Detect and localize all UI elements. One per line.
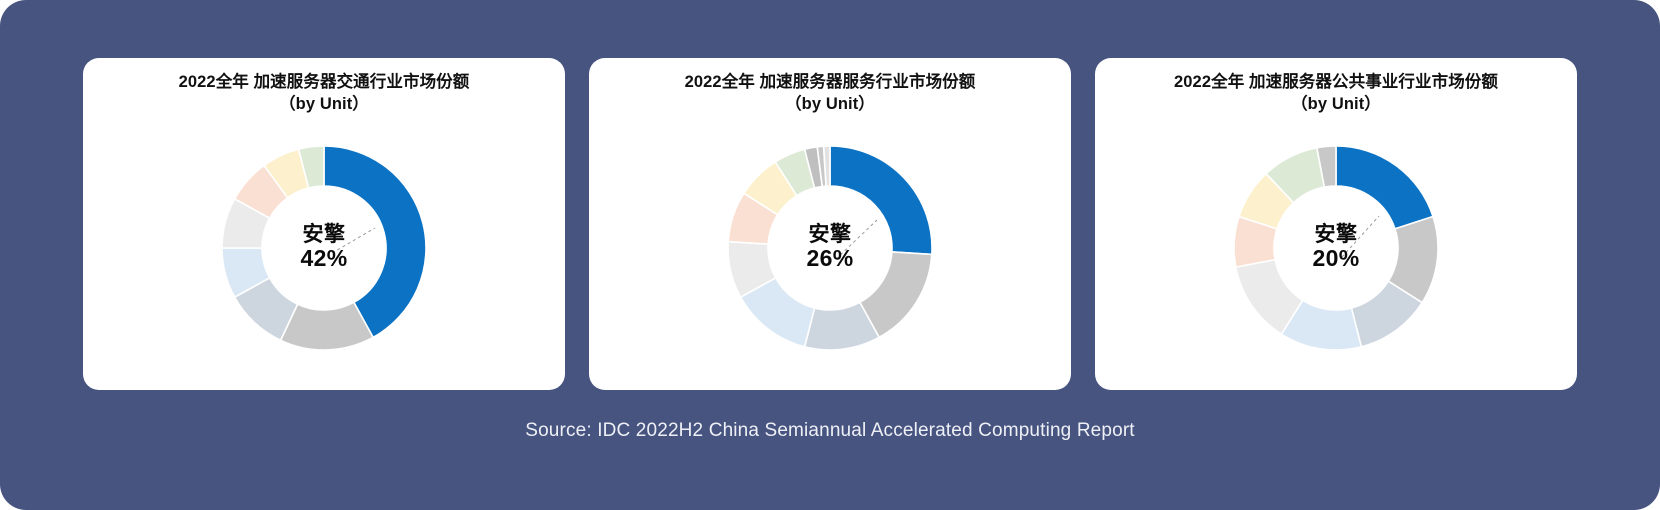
donut-slice[interactable]	[1336, 146, 1433, 229]
chart-card-services[interactable]: 2022全年 加速服务器服务行业市场份额 （by Unit） 安擎 26%	[589, 58, 1071, 390]
chart-title-transportation: 2022全年 加速服务器交通行业市场份额 （by Unit）	[179, 72, 470, 116]
chart-cards-row: 2022全年 加速服务器交通行业市场份额 （by Unit） 安擎 42% 20…	[0, 58, 1660, 390]
source-note: Source: IDC 2022H2 China Semiannual Acce…	[0, 420, 1660, 442]
donut-svg-2	[1211, 124, 1461, 372]
slide-root: 2022全年 加速服务器交通行业市场份额 （by Unit） 安擎 42% 20…	[0, 0, 1660, 510]
donut-svg-1	[705, 124, 955, 372]
chart-title-line1: 2022全年 加速服务器公共事业行业市场份额	[1174, 73, 1498, 91]
donut-slices-1	[728, 146, 932, 350]
chart-card-transportation[interactable]: 2022全年 加速服务器交通行业市场份额 （by Unit） 安擎 42%	[83, 58, 565, 390]
donut-slices-2	[1234, 146, 1438, 350]
chart-title-line2: （by Unit）	[1174, 94, 1498, 116]
leader-line-0	[327, 228, 375, 256]
donut-chart-public-utilities[interactable]: 安擎 20%	[1211, 124, 1461, 372]
chart-title-line2: （by Unit）	[179, 94, 470, 116]
chart-title-line2: （by Unit）	[685, 94, 976, 116]
leader-line-2	[1342, 216, 1379, 257]
leader-line-1	[836, 220, 877, 259]
donut-chart-transportation[interactable]: 安擎 42%	[199, 124, 449, 372]
chart-title-services: 2022全年 加速服务器服务行业市场份额 （by Unit）	[685, 72, 976, 116]
chart-title-line1: 2022全年 加速服务器交通行业市场份额	[179, 73, 470, 91]
donut-slice[interactable]	[830, 146, 932, 254]
donut-svg-0	[199, 124, 449, 372]
donut-chart-services[interactable]: 安擎 26%	[705, 124, 955, 372]
chart-title-line1: 2022全年 加速服务器服务行业市场份额	[685, 73, 976, 91]
chart-title-public-utilities: 2022全年 加速服务器公共事业行业市场份额 （by Unit）	[1174, 72, 1498, 116]
donut-slices-0	[222, 146, 426, 350]
chart-card-public-utilities[interactable]: 2022全年 加速服务器公共事业行业市场份额 （by Unit） 安擎 20%	[1095, 58, 1577, 390]
